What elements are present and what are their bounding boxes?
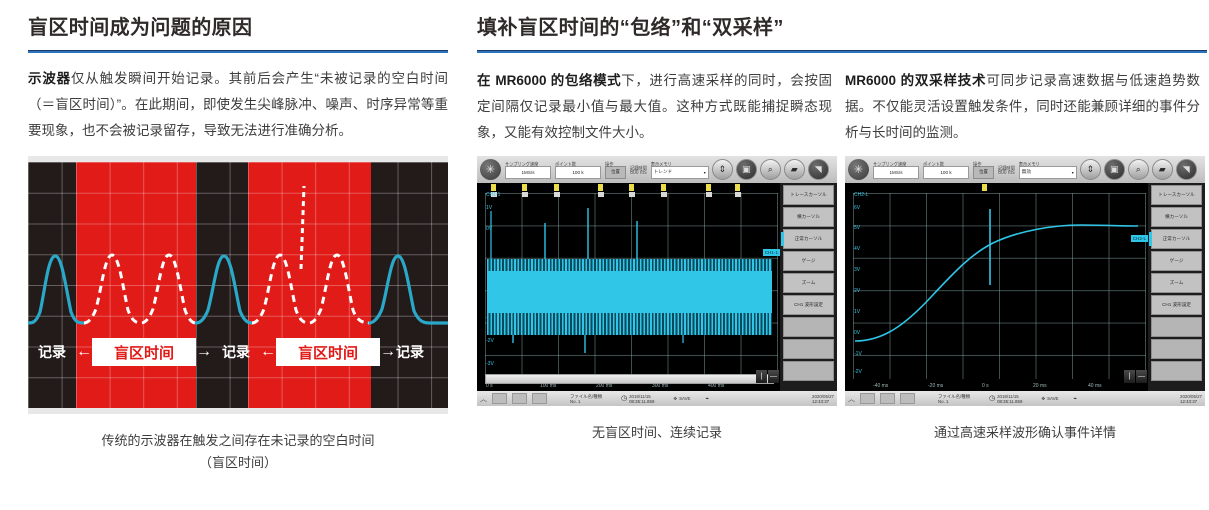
save-icon[interactable]: ▣ bbox=[736, 159, 757, 180]
pen-icon[interactable]: ✒ bbox=[705, 396, 709, 401]
side-button-v-cursor[interactable]: 正常カーソル bbox=[783, 229, 834, 249]
operation-button-field[interactable]: 操作 位置 bbox=[605, 161, 626, 179]
zoom-buttons-mid[interactable]: | — bbox=[756, 370, 779, 383]
label-record-1: 记录 bbox=[38, 342, 66, 362]
cursor-icon[interactable]: ◥ bbox=[808, 159, 829, 180]
label-blind-chip-1: 盲区时间 bbox=[92, 338, 196, 366]
point-count-label: ポイント数 bbox=[923, 161, 969, 167]
side-button-trace-cursor[interactable]: トレースカーソル bbox=[1151, 185, 1202, 205]
save-label: SAVE bbox=[1047, 396, 1058, 401]
point-count-value: 100 k bbox=[555, 166, 601, 179]
right-body-text: MR6000 的双采样技术可同步记录高速数据与低速趋势数据。不仅能灵活设置触发条… bbox=[845, 68, 1200, 146]
left-caption-line1: 传统的示波器在触发之间存在未记录的空白时间 bbox=[28, 430, 448, 452]
time-value: 08:35:11.859 bbox=[629, 399, 654, 404]
illustration-scope: 记录 ← 盲区时间 → 记录 ← 盲区时间 bbox=[28, 162, 448, 408]
sampling-rate-label: サンプリング速度 bbox=[873, 161, 919, 167]
side-button-gauge[interactable]: ゲージ bbox=[783, 251, 834, 271]
save-label: SAVE bbox=[679, 396, 690, 401]
side-button-trace-cursor[interactable]: トレースカーソル bbox=[783, 185, 834, 205]
save-status-icon: ✥ bbox=[673, 396, 677, 401]
arrow-right-1: → bbox=[196, 343, 212, 361]
side-button-h-cursor[interactable]: 横カーソル bbox=[783, 207, 834, 227]
display-memory-select[interactable]: トレンド ▾ bbox=[651, 166, 709, 179]
sampling-rate-field[interactable]: サンプリング速度 1MS/s bbox=[505, 161, 551, 179]
scope-screenshot-dualsample: ✳ サンプリング速度 1MS/s ポイント数 100 k 操作 位置 記録時間 bbox=[845, 156, 1205, 406]
left-body-lead: 示波器 bbox=[28, 71, 71, 86]
envelope-solid-band bbox=[487, 271, 772, 313]
collapse-icon[interactable]: ︿ bbox=[848, 394, 855, 404]
illustration-label-row: 记录 ← 盲区时间 → 记录 ← 盲区时间 bbox=[28, 338, 448, 366]
label-record-2: 记录 bbox=[222, 342, 250, 362]
scope-scrollbar-mid[interactable] bbox=[485, 374, 774, 384]
record-time-value: 600 ms bbox=[630, 170, 647, 176]
page-root: 盲区时间成为问题的原因 示波器仅从触发瞬间开始记录。其前后会产生“未被记录的空白… bbox=[0, 0, 1209, 510]
left-heading-rule bbox=[28, 50, 448, 53]
clock-icon: ◷ bbox=[621, 396, 627, 401]
trigger-mark bbox=[661, 184, 666, 191]
side-button-ch-setting[interactable]: CH1 波形設定 bbox=[1151, 295, 1202, 315]
side-button-ch-setting[interactable]: CH1 波形設定 bbox=[783, 295, 834, 315]
right-caption: 通过高速采样波形确认事件详情 bbox=[845, 422, 1205, 444]
search-icon[interactable]: ⌕ bbox=[1128, 159, 1149, 180]
scope-side-menu-mid: トレースカーソル 横カーソル 正常カーソル ゲージ ズーム CH1 波形設定 bbox=[780, 183, 837, 391]
display-memory-field[interactable]: 表示メモリ トレンド ▾ bbox=[651, 161, 709, 179]
point-count-field[interactable]: ポイント数 100 k bbox=[923, 161, 969, 179]
zoom-in-button[interactable]: | bbox=[1124, 370, 1135, 383]
cursor-icon[interactable]: ◥ bbox=[1176, 159, 1197, 180]
folder-icon[interactable]: ▰ bbox=[1152, 159, 1173, 180]
status-box[interactable] bbox=[532, 393, 547, 404]
updown-icon[interactable]: ⇕ bbox=[712, 159, 733, 180]
mid-caption: 无盲区时间、连续记录 bbox=[477, 422, 837, 444]
search-icon[interactable]: ⌕ bbox=[760, 159, 781, 180]
pen-icon[interactable]: ✒ bbox=[1073, 396, 1077, 401]
status-box[interactable] bbox=[860, 393, 875, 404]
trigger-mark bbox=[598, 184, 603, 191]
file-info: ファイル名/種類No. 1 bbox=[570, 394, 602, 404]
sampling-rate-field[interactable]: サンプリング速度 1MS/s bbox=[873, 161, 919, 179]
operation-button-field[interactable]: 操作 位置 bbox=[973, 161, 994, 179]
scope-waveform-area-right[interactable]: CH2-L 6V 5V 4V 3V 2V 1V 0V -1V -2V CH2-L bbox=[845, 183, 1148, 391]
scope-waveform-area-mid[interactable]: CH1-1 1V 0V -1V -2V -3V bbox=[477, 183, 780, 391]
timestamp-info: ◷ 2019/11/1508:35:11.859 bbox=[989, 394, 1022, 404]
side-button-blank[interactable] bbox=[1151, 339, 1202, 359]
right-body-lead: MR6000 的双采样技术 bbox=[845, 73, 986, 88]
scope-screenshot-envelope: ✳ サンプリング速度 1MS/s ポイント数 100 k 操作 位置 記録時間 bbox=[477, 156, 837, 406]
display-memory-label: 表示メモリ bbox=[651, 161, 709, 167]
x-label: -20 ms bbox=[928, 383, 943, 389]
status-box[interactable] bbox=[880, 393, 895, 404]
left-column: 盲区时间成为问题的原因 示波器仅从触发瞬间开始记录。其前后会产生“未被记录的空白… bbox=[28, 0, 448, 156]
side-button-zoom[interactable]: ズーム bbox=[783, 273, 834, 293]
side-button-gauge[interactable]: ゲージ bbox=[1151, 251, 1202, 271]
waveform-svg bbox=[28, 162, 448, 408]
position-button[interactable]: 位置 bbox=[973, 166, 994, 179]
file-value: No. 1 bbox=[570, 399, 581, 404]
chevron-down-icon: ▾ bbox=[704, 170, 706, 175]
operation-label: 操作 bbox=[973, 161, 994, 167]
dualsample-waveform bbox=[853, 193, 1146, 389]
save-icon[interactable]: ▣ bbox=[1104, 159, 1125, 180]
record-time-value: 600 ms bbox=[998, 170, 1015, 176]
display-memory-value: 無効 bbox=[1022, 169, 1031, 175]
file-value: No. 1 bbox=[938, 399, 949, 404]
left-caption: 传统的示波器在触发之间存在未记录的空白时间 （盲区时间） bbox=[28, 430, 448, 474]
zoom-out-button[interactable]: — bbox=[1136, 370, 1147, 383]
side-button-zoom[interactable]: ズーム bbox=[1151, 273, 1202, 293]
sampling-rate-label: サンプリング速度 bbox=[505, 161, 551, 167]
display-memory-label: 表示メモリ bbox=[1019, 161, 1077, 167]
point-count-field[interactable]: ポイント数 100 k bbox=[555, 161, 601, 179]
left-body-rest: 仅从触发瞬间开始记录。其前后会产生“未被记录的空白时间（＝盲区时间）”。在此期间… bbox=[28, 71, 448, 138]
envelope-hatch-bottom bbox=[487, 313, 772, 335]
trigger-mark bbox=[629, 184, 634, 191]
label-record-3: 记录 bbox=[396, 342, 424, 362]
operation-label: 操作 bbox=[605, 161, 626, 167]
side-button-blank[interactable] bbox=[1151, 361, 1202, 381]
scope-side-menu-right: トレースカーソル 横カーソル 正常カーソル ゲージ ズーム CH1 波形設定 bbox=[1148, 183, 1205, 391]
record-time-field: 記録時間 600 ms bbox=[630, 165, 647, 175]
x-label: 40 ms bbox=[1088, 383, 1102, 389]
gear-icon[interactable]: ✳ bbox=[480, 159, 501, 180]
mid-body-lead: 在 MR6000 的包络模式 bbox=[477, 73, 621, 88]
left-heading: 盲区时间成为问题的原因 bbox=[28, 0, 448, 41]
gear-icon[interactable]: ✳ bbox=[848, 159, 869, 180]
cursor-tag-mid[interactable]: CH1-1 bbox=[763, 249, 780, 256]
point-count-label: ポイント数 bbox=[555, 161, 601, 167]
label-blind-1: 盲区时间 bbox=[114, 342, 174, 363]
display-memory-value: トレンド bbox=[654, 169, 672, 175]
zoom-buttons-right[interactable]: | — bbox=[1124, 370, 1147, 383]
mid-body-text: 在 MR6000 的包络模式下，进行高速采样的同时，会按固定间隔仅记录最小值与最… bbox=[477, 68, 832, 146]
datetime-info: 2020/05/2712:43:37 bbox=[1180, 394, 1202, 404]
trigger-mark bbox=[706, 184, 711, 191]
file-info: ファイル名/種類No. 1 bbox=[938, 394, 970, 404]
blind-time-illustration: 记录 ← 盲区时间 → 记录 ← 盲区时间 bbox=[28, 156, 448, 414]
side-button-h-cursor[interactable]: 横カーソル bbox=[1151, 207, 1202, 227]
side-button-blank[interactable] bbox=[783, 361, 834, 381]
record-time-field: 記録時間 600 ms bbox=[998, 165, 1015, 175]
label-blind-2: 盲区时间 bbox=[298, 342, 358, 363]
scope-status-bar-right: ︿ ファイル名/種類No. 1 ◷ 2019/11/1508:35:11.859… bbox=[845, 391, 1205, 406]
side-button-blank[interactable] bbox=[783, 339, 834, 359]
x-label: -40 ms bbox=[873, 383, 888, 389]
trigger-mark bbox=[491, 184, 496, 191]
updown-icon[interactable]: ⇕ bbox=[1080, 159, 1101, 180]
sampling-rate-value: 1MS/s bbox=[873, 166, 919, 179]
side-button-v-cursor[interactable]: 正常カーソル bbox=[1151, 229, 1202, 249]
arrow-right-2: → bbox=[380, 343, 396, 361]
time-value: 08:35:11.859 bbox=[997, 399, 1022, 404]
clock-value: 12:43:37 bbox=[812, 399, 829, 404]
save-info: ✥ SAVE bbox=[1041, 396, 1058, 401]
clock-value: 12:43:37 bbox=[1180, 399, 1197, 404]
zoom-in-button[interactable]: | bbox=[756, 370, 767, 383]
timestamp-info: ◷ 2019/11/1508:35:11.859 bbox=[621, 394, 654, 404]
scope-toolbar-right: ✳ サンプリング速度 1MS/s ポイント数 100 k 操作 位置 記録時間 bbox=[845, 156, 1205, 183]
side-button-blank[interactable] bbox=[783, 317, 834, 337]
x-label: 0 s bbox=[982, 383, 989, 389]
x-label: 20 ms bbox=[1033, 383, 1047, 389]
left-body-text: 示波器仅从触发瞬间开始记录。其前后会产生“未被记录的空白时间（＝盲区时间）”。在… bbox=[28, 66, 448, 144]
middle-column: 在 MR6000 的包络模式下，进行高速采样的同时，会按固定间隔仅记录最小值与最… bbox=[477, 0, 837, 406]
scope-status-bar-mid: ︿ ファイル名/種類No. 1 ◷ 2019/11/1508:35:11.859… bbox=[477, 391, 837, 406]
sampling-rate-value: 1MS/s bbox=[505, 166, 551, 179]
label-blind-chip-2: 盲区时间 bbox=[276, 338, 380, 366]
scope-toolbar-mid: ✳ サンプリング速度 1MS/s ポイント数 100 k 操作 位置 記録時間 bbox=[477, 156, 837, 183]
position-button[interactable]: 位置 bbox=[605, 166, 626, 179]
zoom-out-button[interactable]: — bbox=[768, 370, 779, 383]
right-column: MR6000 的双采样技术可同步记录高速数据与低速趋势数据。不仅能灵活设置触发条… bbox=[845, 0, 1205, 406]
arrow-left-2: ← bbox=[260, 343, 276, 361]
side-button-blank[interactable] bbox=[1151, 317, 1202, 337]
point-count-value: 100 k bbox=[923, 166, 969, 179]
chevron-down-icon: ▾ bbox=[1072, 170, 1074, 175]
folder-icon[interactable]: ▰ bbox=[784, 159, 805, 180]
save-info: ✥ SAVE bbox=[673, 396, 690, 401]
collapse-icon[interactable]: ︿ bbox=[480, 394, 487, 404]
trigger-mark bbox=[735, 184, 740, 191]
cursor-tag-right[interactable]: CH2-L bbox=[1131, 235, 1148, 242]
status-box[interactable] bbox=[900, 393, 915, 404]
trigger-mark bbox=[522, 184, 527, 191]
trigger-mark bbox=[554, 184, 559, 191]
display-memory-field[interactable]: 表示メモリ 無効 ▾ bbox=[1019, 161, 1077, 179]
save-status-icon: ✥ bbox=[1041, 396, 1045, 401]
arrow-left-1: ← bbox=[76, 343, 92, 361]
status-box[interactable] bbox=[492, 393, 507, 404]
trigger-mark bbox=[982, 184, 987, 191]
status-box[interactable] bbox=[512, 393, 527, 404]
left-caption-line2: （盲区时间） bbox=[28, 452, 448, 474]
clock-icon: ◷ bbox=[989, 396, 995, 401]
datetime-info: 2020/05/2712:43:37 bbox=[812, 394, 834, 404]
display-memory-select[interactable]: 無効 ▾ bbox=[1019, 166, 1077, 179]
